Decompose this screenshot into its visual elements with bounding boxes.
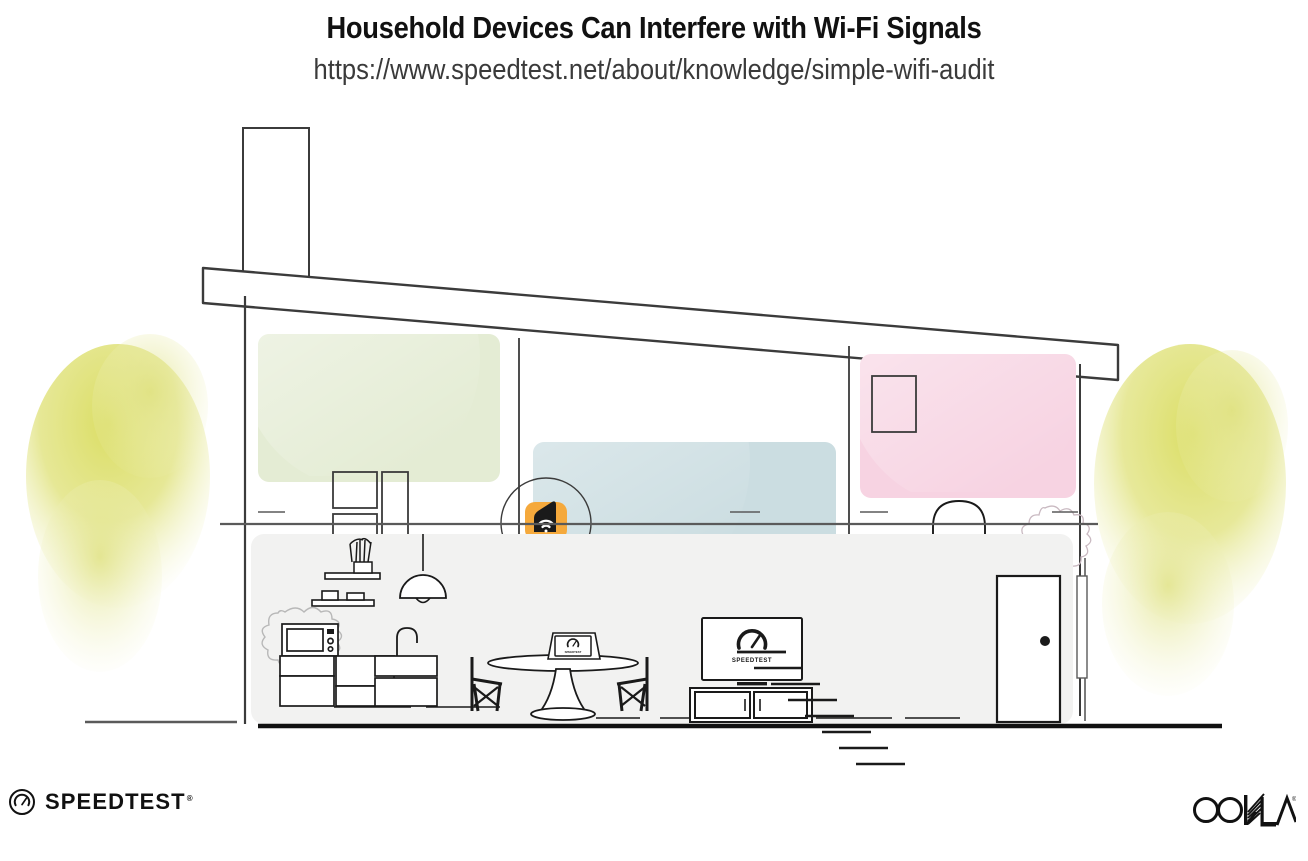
speedtest-logo: SPEEDTEST® xyxy=(8,788,194,816)
house-illustration: SPEEDTEST xyxy=(0,106,1308,766)
front-door[interactable] xyxy=(997,576,1060,722)
microwave xyxy=(282,624,338,656)
ookla-logo: ® xyxy=(1192,788,1296,828)
foliage-right xyxy=(1094,344,1288,696)
kitchen-cabinets xyxy=(280,656,437,706)
foliage-left xyxy=(26,334,210,672)
infographic-page: Household Devices Can Interfere with Wi-… xyxy=(0,0,1308,861)
speedtest-wordmark-label: SPEEDTEST xyxy=(45,789,186,814)
ookla-logo-mark: ® xyxy=(1192,788,1296,828)
page-title: Household Devices Can Interfere with Wi-… xyxy=(78,8,1229,48)
laptop-screen-label: SPEEDTEST xyxy=(565,650,582,654)
header: Household Devices Can Interfere with Wi-… xyxy=(0,0,1308,108)
kitchen-shelf-upper xyxy=(325,573,380,579)
source-url: https://www.speedtest.net/about/knowledg… xyxy=(78,51,1229,89)
ookla-trademark: ® xyxy=(1292,796,1296,803)
house-cutaway-svg: SPEEDTEST xyxy=(0,106,1308,766)
door-knob-icon[interactable] xyxy=(1040,636,1050,646)
speedtest-trademark: ® xyxy=(187,794,194,803)
speedtest-wordmark-text: SPEEDTEST® xyxy=(45,789,194,815)
footer: SPEEDTEST® xyxy=(0,766,1308,861)
tv-screen-label: SPEEDTEST xyxy=(732,658,772,664)
media-console xyxy=(690,688,812,722)
chimney xyxy=(243,128,309,293)
laptop-speedtest: SPEEDTEST xyxy=(548,633,600,659)
downspout xyxy=(1077,558,1087,721)
speedtest-gauge-icon-logo xyxy=(8,788,36,816)
